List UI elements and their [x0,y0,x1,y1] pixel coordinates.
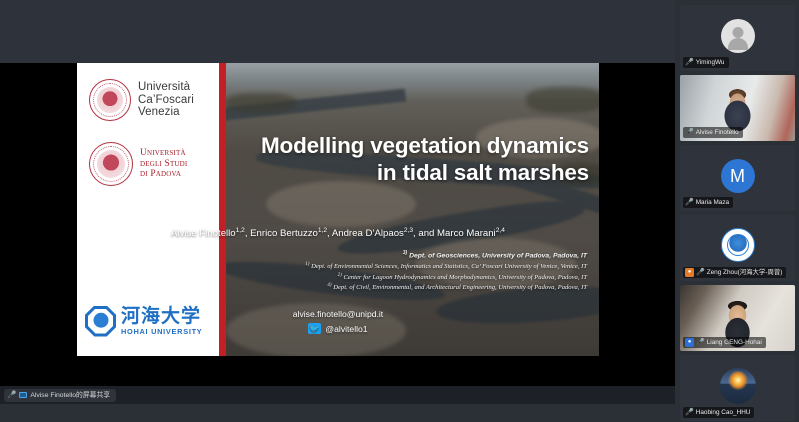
cohost-badge-icon: ● [685,338,694,347]
mic-muted-icon: 🎤 [696,269,705,276]
affiliation-4-text: Dept. of Civil, Environmental, and Archi… [333,285,587,292]
slide-title-line-2: in tidal salt marshes [377,160,589,185]
ca-foscari-line-1: Università [138,81,190,93]
screen-share-status-bar: 🎤 Alvise Finotello的屏幕共享 [0,386,675,404]
affiliation-4: 4) Dept. of Civil, Environmental, and Ar… [237,282,587,293]
screen-share-label: Alvise Finotello的屏幕共享 [30,390,110,401]
author-4-name: and Marco Marani [418,228,495,239]
participant-name-label: 🎤 Haobing Cao_HHU [683,407,754,418]
mic-muted-icon: 🎤 [685,59,694,66]
participant-tile-liang-geng[interactable]: ● 🎤 Liang GENG-Hohai [680,285,795,351]
affiliation-3: 2) Center for Lagoon Hydrodynamics and M… [237,272,587,283]
author-1-name: Alvise Finotello [171,228,236,239]
padova-logo-text: Università degli Studi di Padova [140,148,187,180]
participant-name: Zeng Zhou(河海大学-周曾) [707,268,783,277]
contact-twitter[interactable]: 🐦 @alvitello1 [77,323,599,334]
affiliation-2: 1) Dept. of Environmental Sciences, Info… [237,261,587,272]
affiliation-1-sup: 3) [403,250,407,256]
mic-muted-icon: 🎤 [685,199,694,206]
participant-video-strip[interactable]: 🎤 YimingWu 🎤 Alvise Finotello M 🎤 Maria … [675,0,799,422]
mic-on-icon: 🎤 [685,129,694,136]
slide-title: Modelling vegetation dynamics in tidal s… [235,132,589,186]
mic-muted-icon: 🎤 [685,409,694,416]
author-4-sup: 2,4 [496,227,505,234]
mic-on-icon: 🎤 [7,391,16,399]
affiliation-3-sup: 2) [338,273,342,278]
participant-tile-yimingwu[interactable]: 🎤 YimingWu [680,5,795,71]
ca-foscari-seal-icon [89,79,131,121]
padova-line-1: Università [140,148,186,158]
avatar [721,228,755,262]
contact-email[interactable]: alvise.finotello@unipd.it [77,309,599,319]
affiliation-2-text: Dept. of Environmental Sciences, Informa… [311,263,587,270]
affiliation-3-text: Center for Lagoon Hydrodynamics and Morp… [343,274,587,281]
ca-foscari-line-2: Ca’Foscari [138,94,194,106]
mic-muted-icon: 🎤 [696,339,705,346]
screen-share-indicator[interactable]: 🎤 Alvise Finotello的屏幕共享 [4,389,116,402]
participant-name: Maria Maza [696,198,729,207]
affiliation-1-text: Dept. of Geosciences, University of Pado… [409,252,587,259]
slide-contact: alvise.finotello@unipd.it 🐦 @alvitello1 [77,309,599,334]
avatar [721,19,755,53]
participant-tile-haobing-cao[interactable]: 🎤 Haobing Cao_HHU [680,355,795,421]
twitter-bird-icon: 🐦 [308,323,321,334]
host-badge-icon: ● [685,268,694,277]
participant-name-label: ● 🎤 Zeng Zhou(河海大学-周曾) [683,267,786,278]
padova-line-3: di Padova [140,169,181,179]
screen-share-icon [19,392,27,398]
universita-padova-logo: Università degli Studi di Padova [89,135,214,193]
ca-foscari-line-3: Venezia [138,106,180,118]
participant-name-label: 🎤 YimingWu [683,57,729,68]
avatar [720,368,756,404]
affiliation-2-sup: 1) [305,262,309,267]
slide-affiliations: 3) Dept. of Geosciences, University of P… [237,249,587,293]
presentation-slide[interactable]: Università Ca’Foscari Venezia Università… [77,63,599,356]
padova-line-2: degli Studi [140,159,187,169]
ca-foscari-logo-text: Università Ca’Foscari Venezia [138,81,194,119]
affiliation-4-sup: 4) [327,283,331,288]
participant-tile-maria-maza[interactable]: M 🎤 Maria Maza [680,145,795,211]
participant-name: Alvise Finotello [696,128,739,137]
participant-tile-alvise-finotello[interactable]: 🎤 Alvise Finotello [680,75,795,141]
participant-name-label: 🎤 Alvise Finotello [683,127,743,138]
participant-name: Liang GENG-Hohai [707,338,762,347]
author-2-name: Enrico Bertuzzo [250,228,318,239]
avatar: M [721,159,755,193]
slide-title-line-1: Modelling vegetation dynamics [261,133,589,158]
slide-authors: Alvise Finotello1,2, Enrico Bertuzzo1,2,… [77,227,599,239]
shared-screen-area[interactable]: Università Ca’Foscari Venezia Università… [0,0,675,404]
participant-name-label: 🎤 Maria Maza [683,197,733,208]
twitter-handle: @alvitello1 [325,324,367,334]
affiliation-1: 3) Dept. of Geosciences, University of P… [237,249,587,261]
padova-seal-icon [89,142,133,186]
participant-name: YimingWu [696,58,725,67]
author-1-sup: 1,2 [236,227,245,234]
author-3-sup: 2,3 [404,227,413,234]
author-3-name: Andrea D’Alpaos [332,228,404,239]
author-2-sup: 1,2 [318,227,327,234]
universita-ca-foscari-venezia-logo: Università Ca’Foscari Venezia [89,71,211,129]
participant-name-label: ● 🎤 Liang GENG-Hohai [683,337,766,348]
shared-desktop-background [0,0,675,63]
zoom-meeting-window: Università Ca’Foscari Venezia Università… [0,0,799,422]
participant-tile-zeng-zhou[interactable]: ● 🎤 Zeng Zhou(河海大学-周曾) [680,215,795,281]
participant-name: Haobing Cao_HHU [696,408,751,417]
